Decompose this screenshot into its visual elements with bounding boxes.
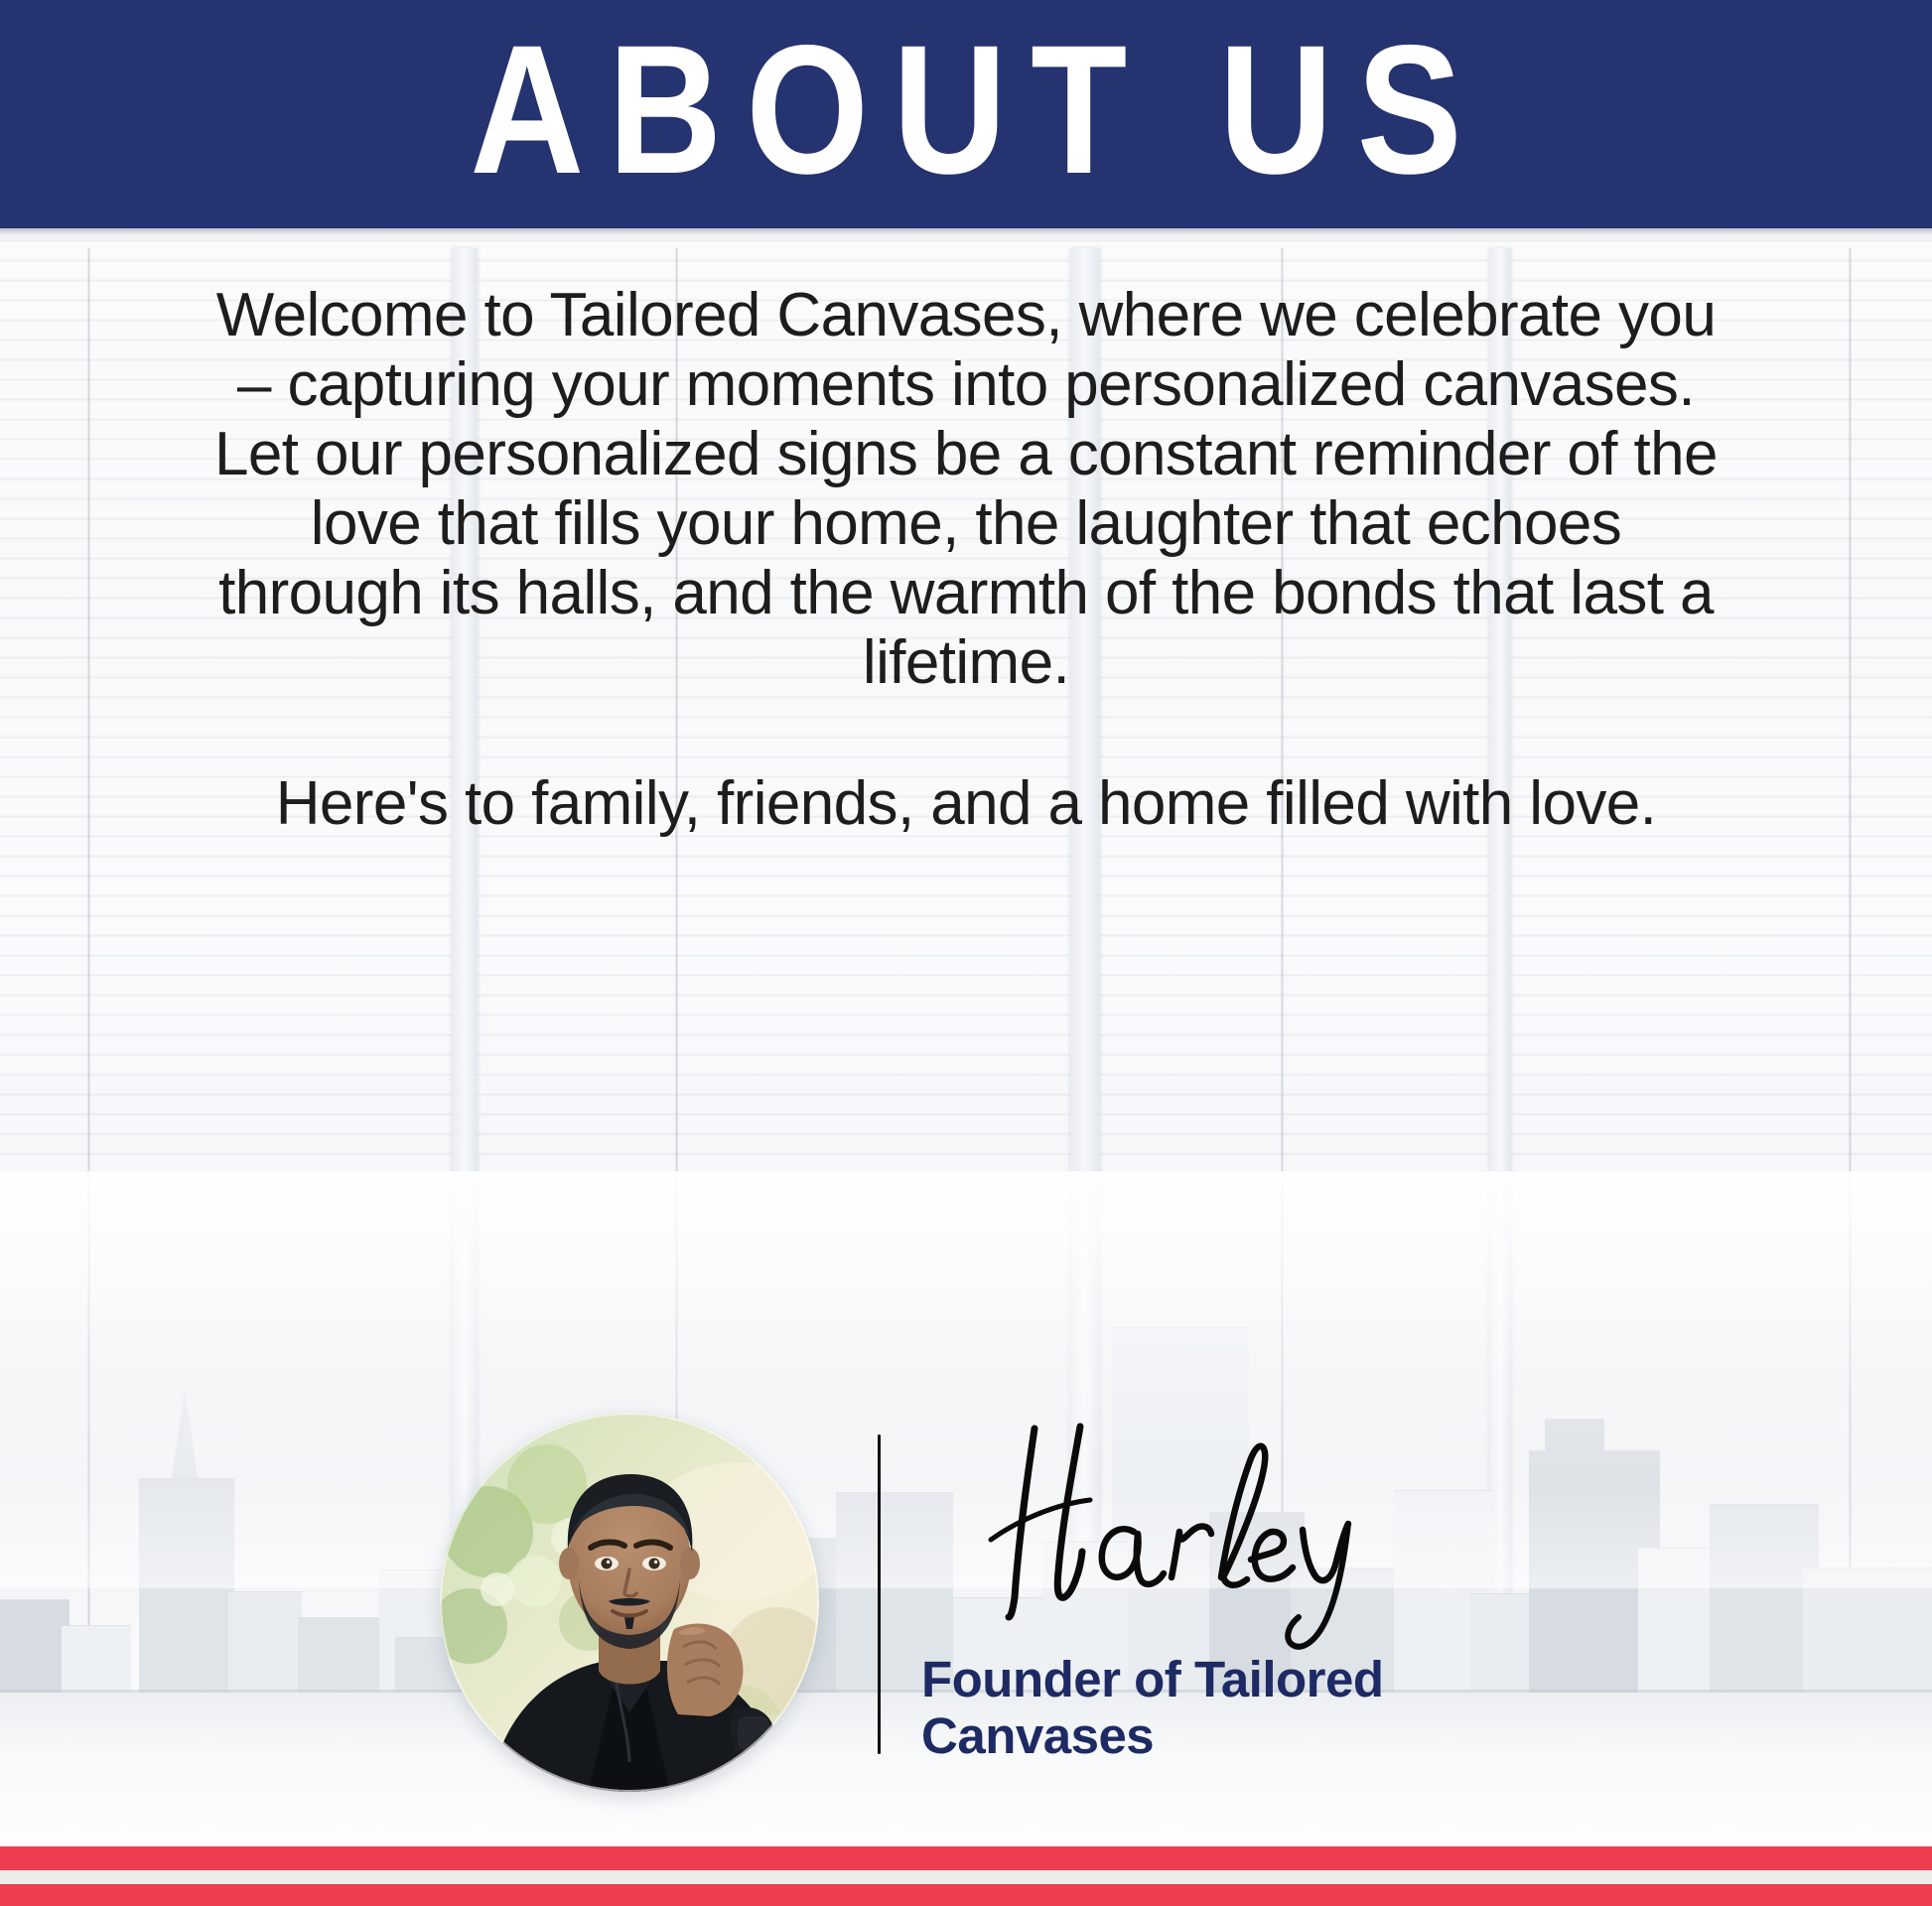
paragraph-1: Welcome to Tailored Canvases, where we c…	[208, 281, 1724, 698]
founder-role: Founder of Tailored Canvases	[921, 1651, 1616, 1764]
paragraph-spacer	[208, 698, 1724, 769]
founder-role-line-1: Founder of Tailored	[921, 1651, 1616, 1707]
founder-role-line-2: Canvases	[921, 1707, 1616, 1764]
page-title: ABOUT US	[446, 19, 1486, 203]
paragraph-2: Here's to family, friends, and a home fi…	[208, 769, 1724, 839]
founder-signature	[923, 1413, 1440, 1661]
avatar	[440, 1413, 819, 1792]
footer-bar-gap	[0, 1870, 1932, 1884]
signature-divider	[878, 1434, 881, 1754]
header-banner: ABOUT US	[0, 0, 1932, 228]
about-us-graphic: ABOUT US Welcome to Tailored Canvases, w…	[0, 0, 1932, 1906]
founder-block: Founder of Tailored Canvases	[0, 1405, 1932, 1802]
header-drop-shadow	[0, 228, 1932, 242]
footer-accent-bar-top	[0, 1846, 1932, 1870]
footer-accent-bar-bottom	[0, 1884, 1932, 1906]
about-us-body: Welcome to Tailored Canvases, where we c…	[208, 281, 1724, 839]
